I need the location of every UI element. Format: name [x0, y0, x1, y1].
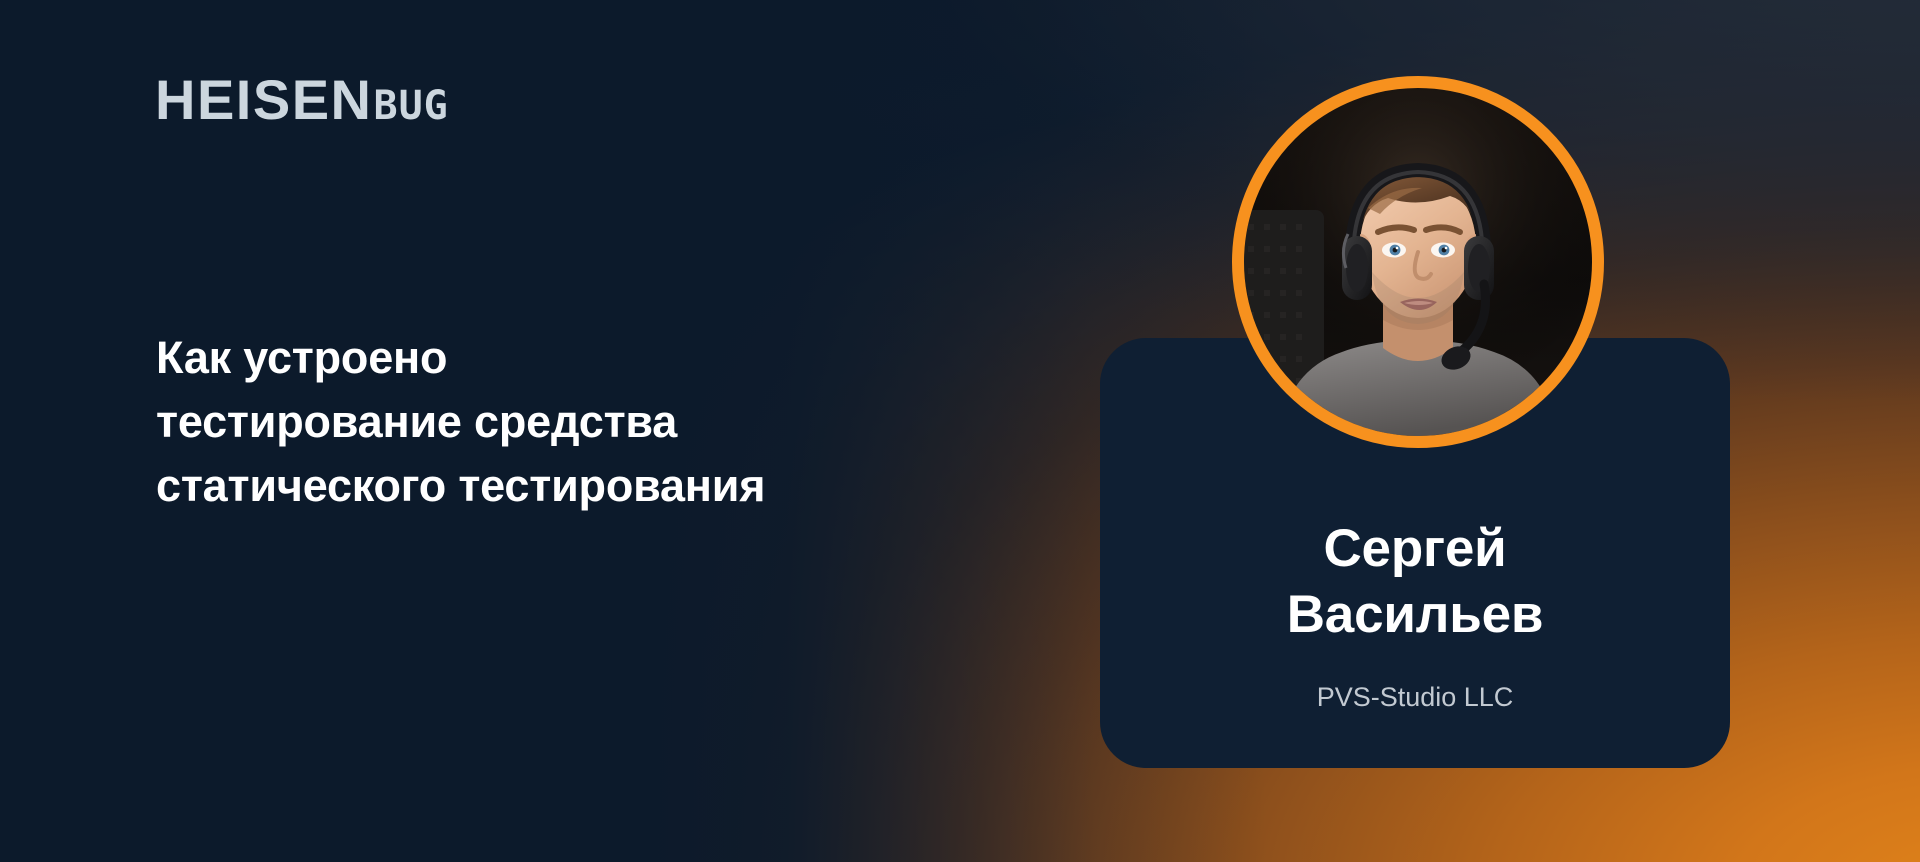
speaker-name: Сергей Васильев — [1287, 516, 1544, 648]
heisenbug-logo: HEISEN BUG — [155, 72, 449, 128]
speaker-avatar — [1232, 76, 1604, 448]
speaker-last-name: Васильев — [1287, 582, 1544, 648]
logo-text-bug: BUG — [374, 86, 449, 126]
speaker-company: PVS-Studio LLC — [1317, 680, 1514, 714]
avatar-orange-ring — [1232, 76, 1604, 448]
speaker-first-name: Сергей — [1287, 516, 1544, 582]
talk-title: Как устроено тестирование средства стати… — [156, 326, 916, 518]
talk-title-line-1: Как устроено — [156, 326, 916, 390]
talk-title-line-2: тестирование средства — [156, 390, 916, 454]
talk-title-line-3: статического тестирования — [156, 454, 916, 518]
conference-talk-slide: HEISEN BUG Как устроено тестирование сре… — [0, 0, 1920, 862]
logo-text-heisen: HEISEN — [155, 72, 373, 128]
